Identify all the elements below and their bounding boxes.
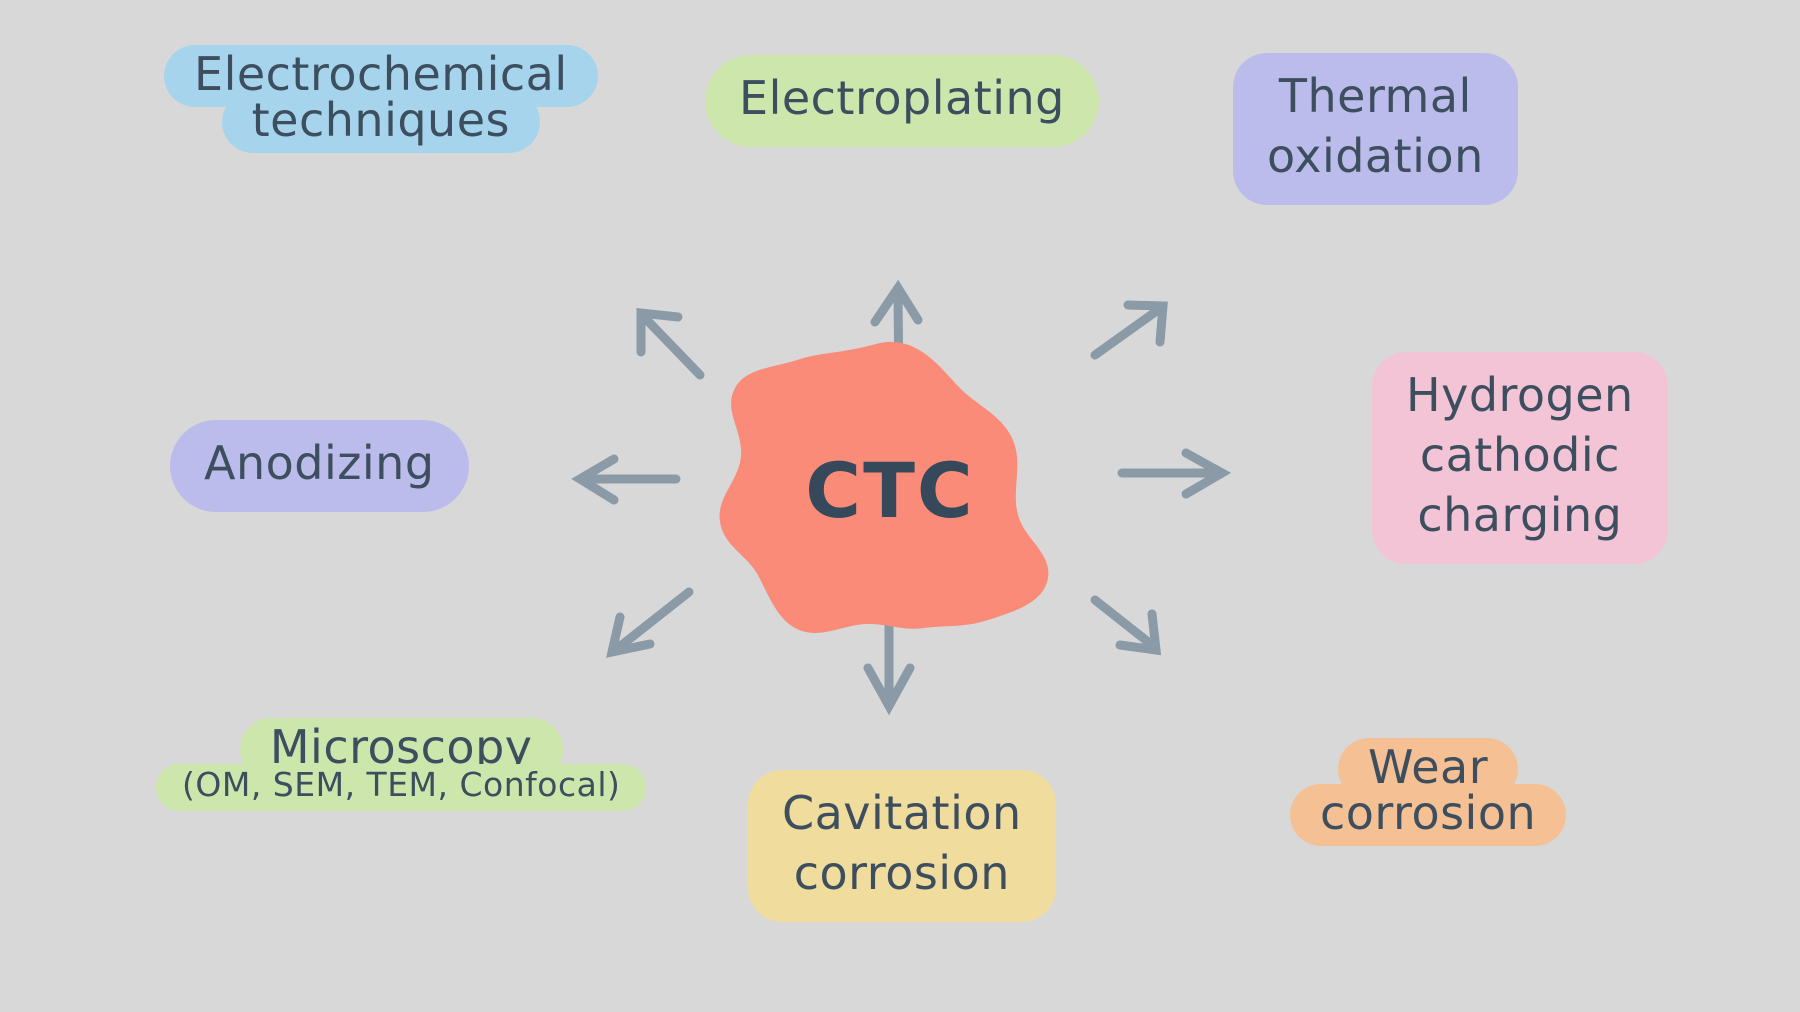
- node-line: cathodic: [1420, 432, 1620, 478]
- node-line: charging: [1417, 492, 1622, 538]
- node-line: Electroplating: [739, 75, 1065, 121]
- node-line: oxidation: [1267, 133, 1484, 179]
- node-line: Hydrogen: [1406, 372, 1634, 418]
- arrow-right: [1122, 453, 1222, 494]
- node-thermal-oxidation[interactable]: Thermal oxidation: [1233, 53, 1518, 205]
- arrow-down-left: [612, 592, 689, 652]
- node-subline: (OM, SEM, TEM, Confocal): [156, 764, 646, 811]
- arrow-down-right: [1095, 600, 1156, 650]
- node-line: corrosion: [794, 850, 1010, 896]
- arrow-up-right: [1095, 305, 1163, 355]
- ctc-blob-shape: [700, 340, 1080, 640]
- node-hydrogen-cathodic-charging[interactable]: Hydrogen cathodic charging: [1372, 352, 1668, 564]
- node-electroplating[interactable]: Electroplating: [705, 55, 1099, 147]
- arrow-left: [580, 459, 676, 500]
- node-microscopy[interactable]: Microscopy (OM, SEM, TEM, Confocal): [156, 718, 646, 811]
- node-wear-corrosion[interactable]: Wear corrosion: [1290, 738, 1566, 846]
- node-line: techniques: [222, 91, 540, 153]
- concept-map-canvas: CTC Electrochemical techniques Electropl…: [0, 0, 1800, 1012]
- node-anodizing[interactable]: Anodizing: [170, 420, 469, 512]
- node-line: corrosion: [1290, 784, 1566, 846]
- center-node-ctc[interactable]: CTC: [700, 340, 1080, 640]
- node-electrochemical-techniques[interactable]: Electrochemical techniques: [164, 45, 598, 153]
- node-cavitation-corrosion[interactable]: Cavitation corrosion: [748, 770, 1056, 922]
- node-line: Anodizing: [204, 440, 435, 486]
- node-line: Thermal: [1279, 73, 1472, 119]
- arrow-up-left: [641, 313, 700, 375]
- node-line: Cavitation: [782, 790, 1022, 836]
